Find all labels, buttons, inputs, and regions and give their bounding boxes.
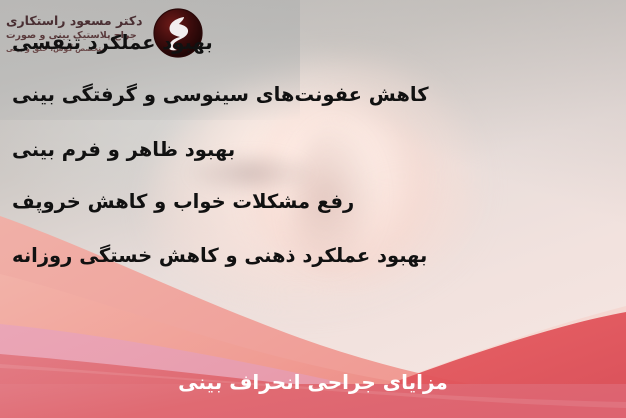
banner-title: مزایای جراحی انحراف بینی xyxy=(0,370,626,394)
benefit-item-1: بهبود عملکرد تنفسی xyxy=(12,32,213,53)
benefit-item-4: رفع مشکلات خواب و کاهش خروپف xyxy=(12,191,354,212)
benefit-item-3: بهبود ظاهر و فرم بینی xyxy=(12,139,235,160)
benefit-item-5: بهبود عملکرد ذهنی و کاهش خستگی روزانه xyxy=(12,245,427,266)
benefit-item-2: کاهش عفونت‌های سینوسی و گرفتگی بینی xyxy=(12,84,429,105)
benefits-list: بهبود عملکرد تنفسی کاهش عفونت‌های سینوسی… xyxy=(12,22,612,266)
poster-canvas: دکتر مسعود راستکاری جراح پلاستیک بینی و … xyxy=(0,0,626,418)
